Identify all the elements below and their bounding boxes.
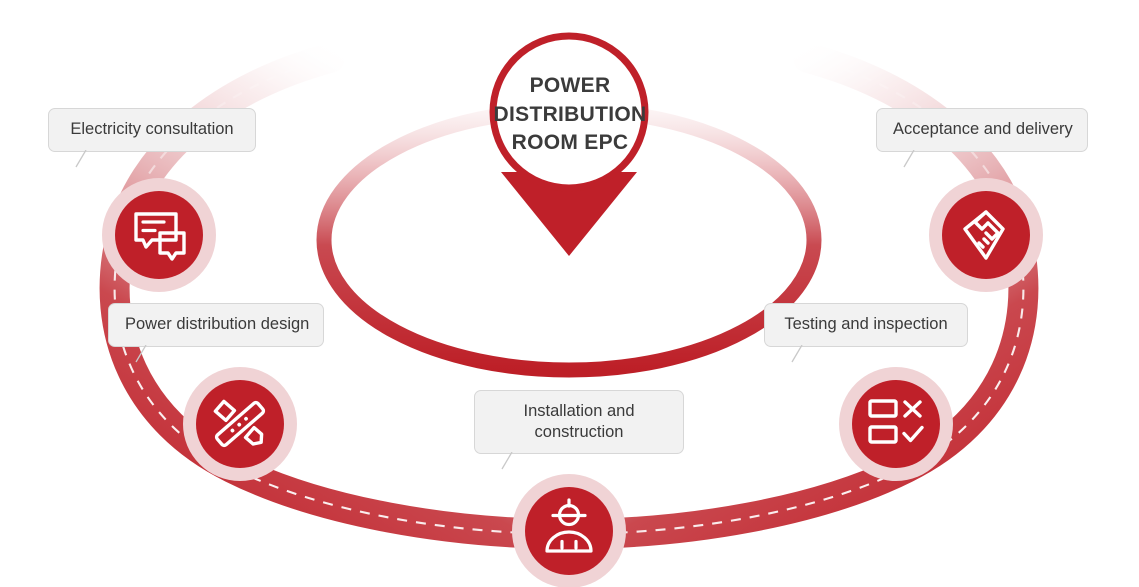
step-label-electricity-consultation[interactable]: Electricity consultation	[48, 108, 256, 152]
step-node-testing-inspection[interactable]	[839, 367, 953, 481]
node-disc	[852, 380, 940, 468]
center-map-pin	[493, 36, 645, 256]
label-tail	[903, 150, 915, 166]
label-tail	[791, 345, 803, 361]
step-node-power-distribution-design[interactable]	[183, 367, 297, 481]
step-label-testing-inspection[interactable]: Testing and inspection	[764, 303, 968, 347]
infographic-canvas: POWER DISTRIBUTION ROOM EPC Electricity …	[0, 0, 1139, 587]
step-label-text-line-2: construction	[491, 422, 667, 443]
pin-circle	[493, 36, 645, 188]
step-node-installation-construction[interactable]	[512, 474, 626, 587]
label-tail	[75, 150, 87, 166]
label-tail	[501, 452, 513, 468]
step-node-electricity-consultation[interactable]	[102, 178, 216, 292]
step-label-text: Power distribution design	[125, 315, 309, 333]
step-label-text: Electricity consultation	[70, 120, 233, 138]
step-label-text: Testing and inspection	[784, 315, 947, 333]
step-label-installation-construction[interactable]: Installation and construction	[474, 390, 684, 454]
step-node-acceptance-delivery[interactable]	[929, 178, 1043, 292]
process-cycle-diagram	[0, 0, 1139, 587]
step-label-text: Acceptance and delivery	[893, 120, 1073, 138]
step-label-acceptance-delivery[interactable]: Acceptance and delivery	[876, 108, 1088, 152]
step-label-text-line-1: Installation and	[491, 401, 667, 422]
label-tail	[135, 345, 147, 361]
step-label-power-distribution-design[interactable]: Power distribution design	[108, 303, 324, 347]
